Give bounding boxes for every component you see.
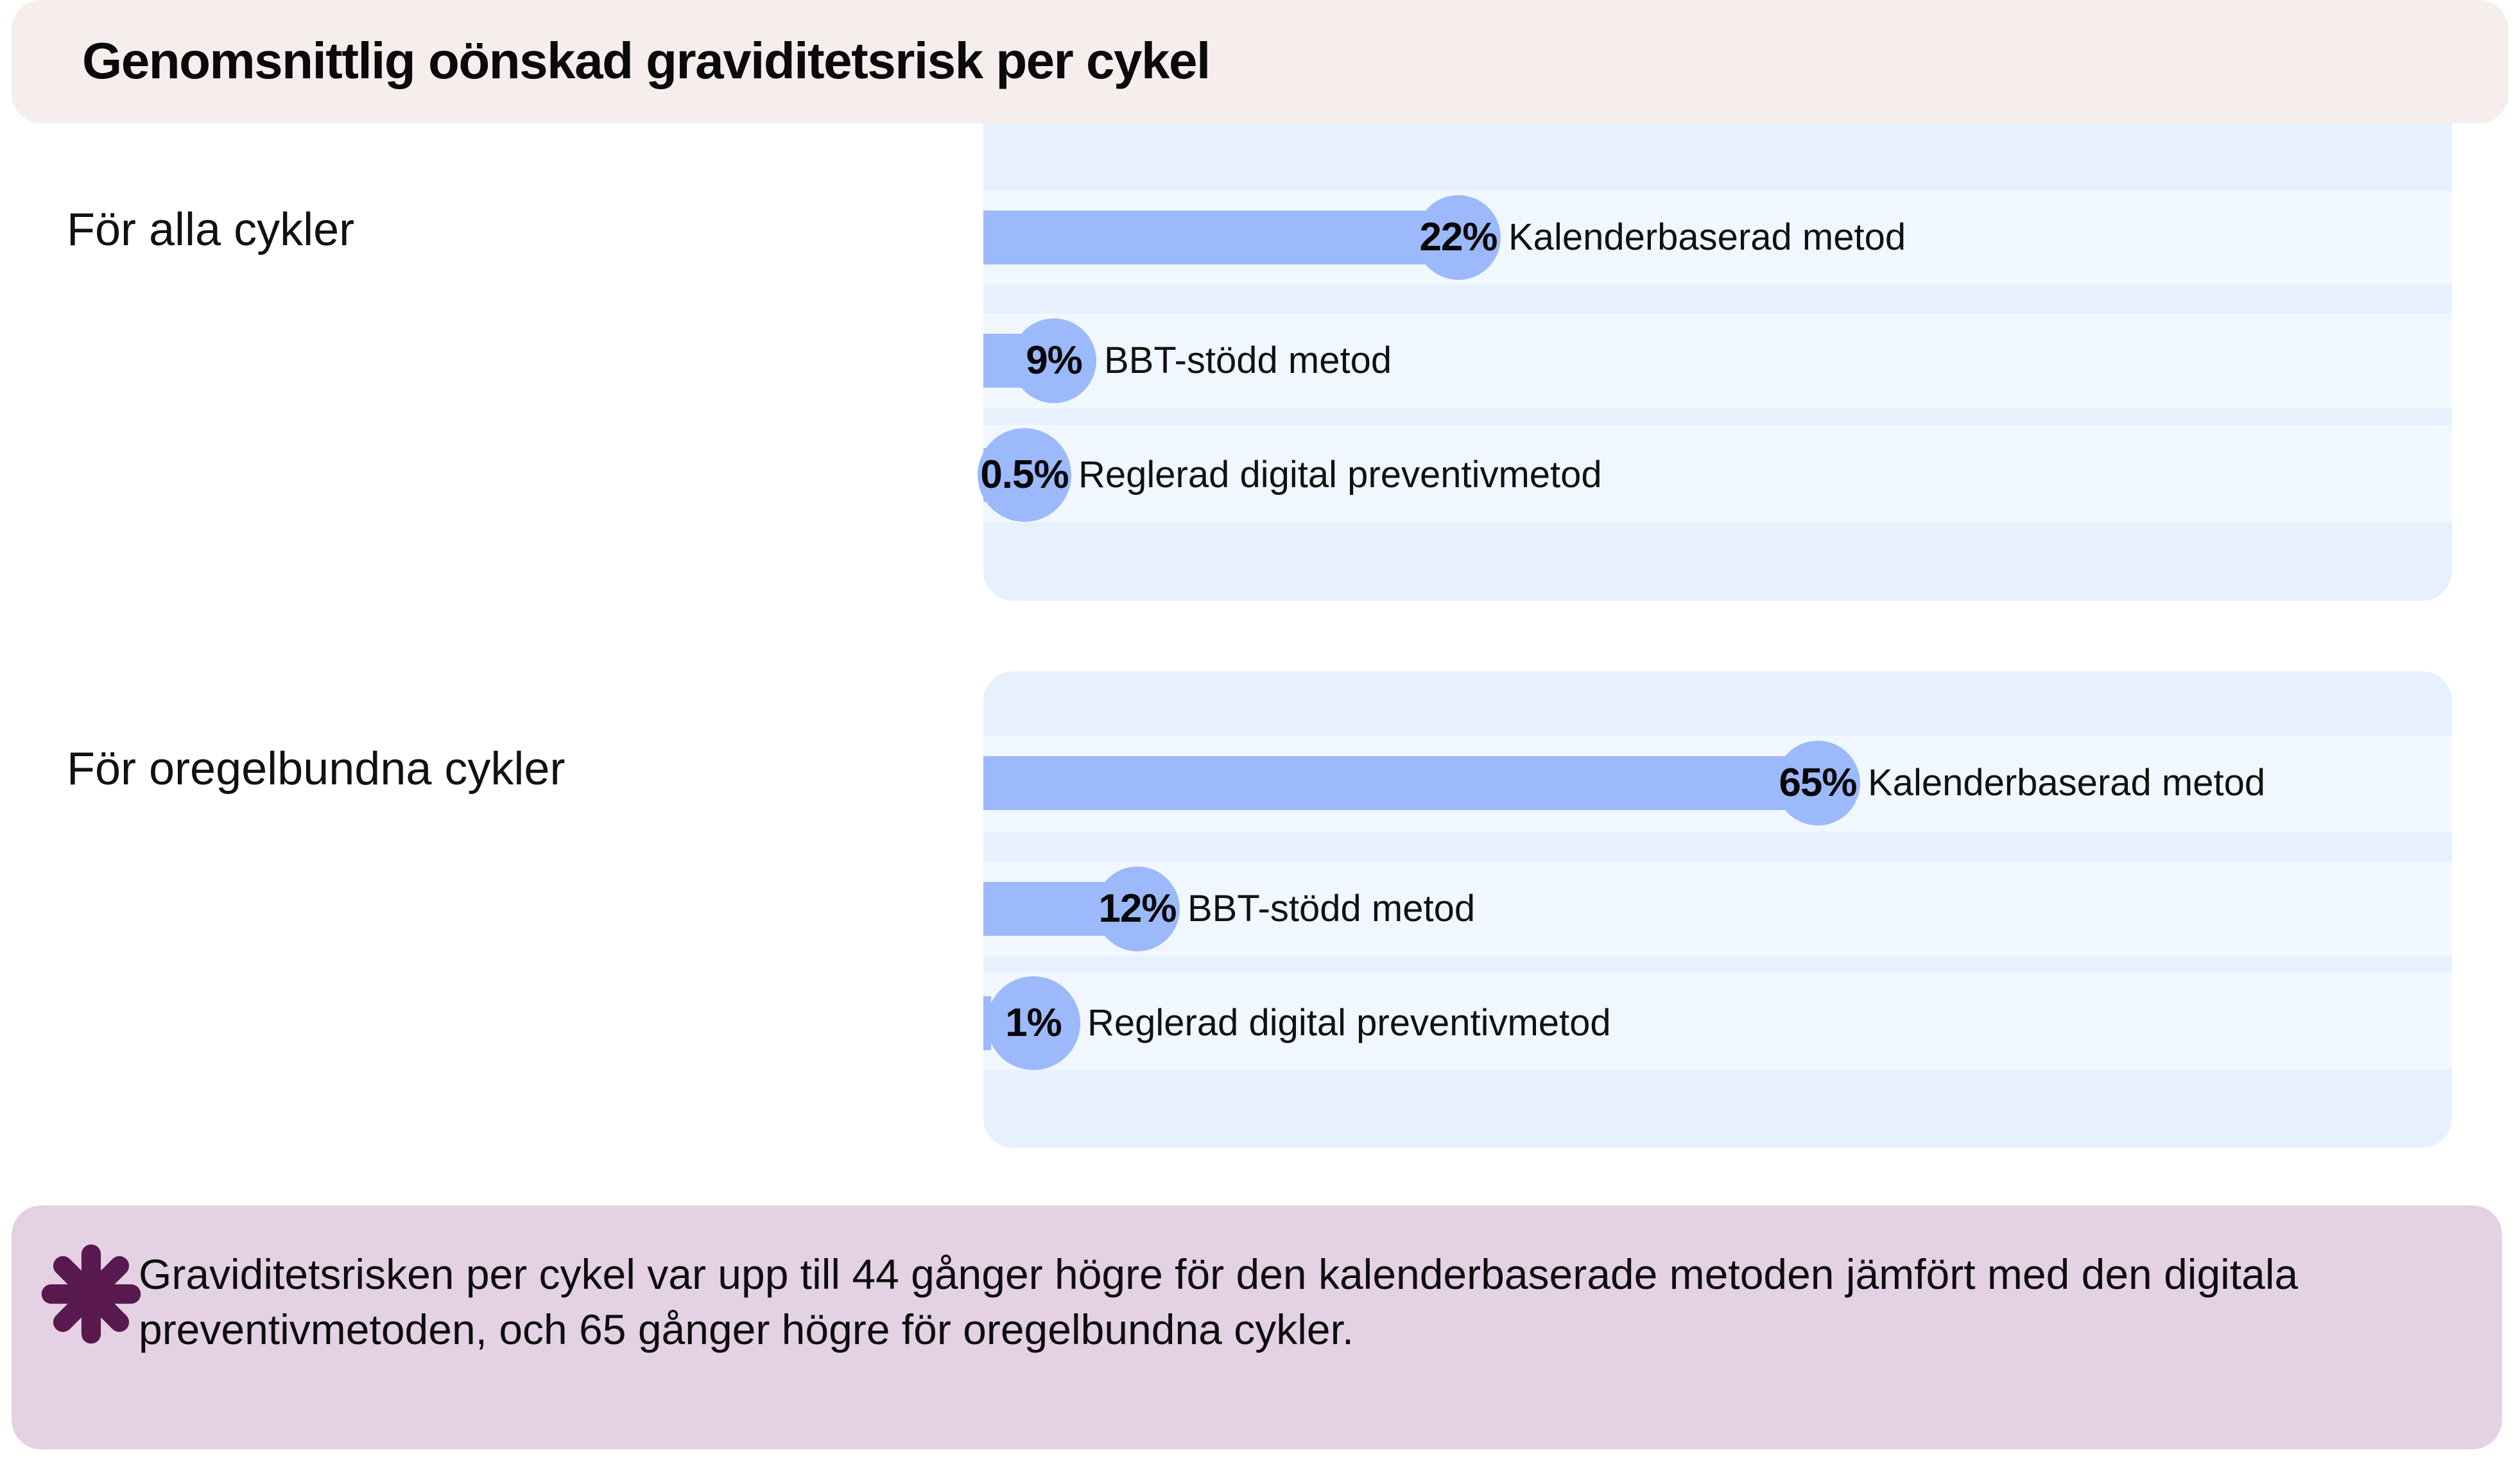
bar-value-bubble: 9% xyxy=(1012,318,1096,403)
bar-value-label: 22% xyxy=(1419,218,1497,257)
bar-value-bubble: 65% xyxy=(1775,741,1860,825)
bar-fill xyxy=(983,211,1458,264)
footer-text: Graviditetsrisken per cykel var upp till… xyxy=(139,1247,2449,1357)
bar-value-bubble: 22% xyxy=(1416,195,1501,280)
group-label-irregular-cycles: För oregelbundna cykler xyxy=(67,741,565,797)
bar-value-bubble: 12% xyxy=(1095,867,1180,951)
chart-panel-all-cycles: 22% Kalenderbaserad metod 9% BBT-stödd m… xyxy=(983,123,2452,601)
bar-category-label: Kalenderbaserad metod xyxy=(1868,763,2265,804)
bar-category-label: Reglerad digital preventivmetod xyxy=(1087,1003,1611,1044)
chart-panel-irregular-cycles: 65% Kalenderbaserad metod 12% BBT-stödd … xyxy=(983,671,2452,1148)
bar-track xyxy=(983,756,1818,810)
bar-category-label: Reglerad digital preventivmetod xyxy=(1078,454,1602,496)
bar-category-label: BBT-stödd metod xyxy=(1187,888,1475,929)
asterisk-flower-icon xyxy=(37,1240,145,1348)
bar-value-label: 0.5% xyxy=(980,455,1068,495)
bar-value-label: 1% xyxy=(1005,1003,1062,1043)
page-title: Genomsnittlig oönskad graviditetsrisk pe… xyxy=(82,26,1210,96)
bar-value-label: 65% xyxy=(1779,763,1856,803)
bar-track xyxy=(983,211,1458,264)
footer-callout: Graviditetsrisken per cykel var upp till… xyxy=(12,1205,2502,1449)
header-band: Genomsnittlig oönskad graviditetsrisk pe… xyxy=(12,0,2508,123)
group-label-all-cycles: För alla cykler xyxy=(67,202,354,257)
bar-value-label: 12% xyxy=(1098,889,1176,929)
bar-category-label: BBT-stödd metod xyxy=(1104,340,1392,381)
bar-category-label: Kalenderbaserad metod xyxy=(1508,217,1906,258)
bar-value-label: 9% xyxy=(1026,341,1082,381)
bar-value-bubble: 1% xyxy=(987,976,1080,1070)
bar-fill xyxy=(983,756,1818,810)
bar-value-bubble: 0.5% xyxy=(978,428,1071,522)
